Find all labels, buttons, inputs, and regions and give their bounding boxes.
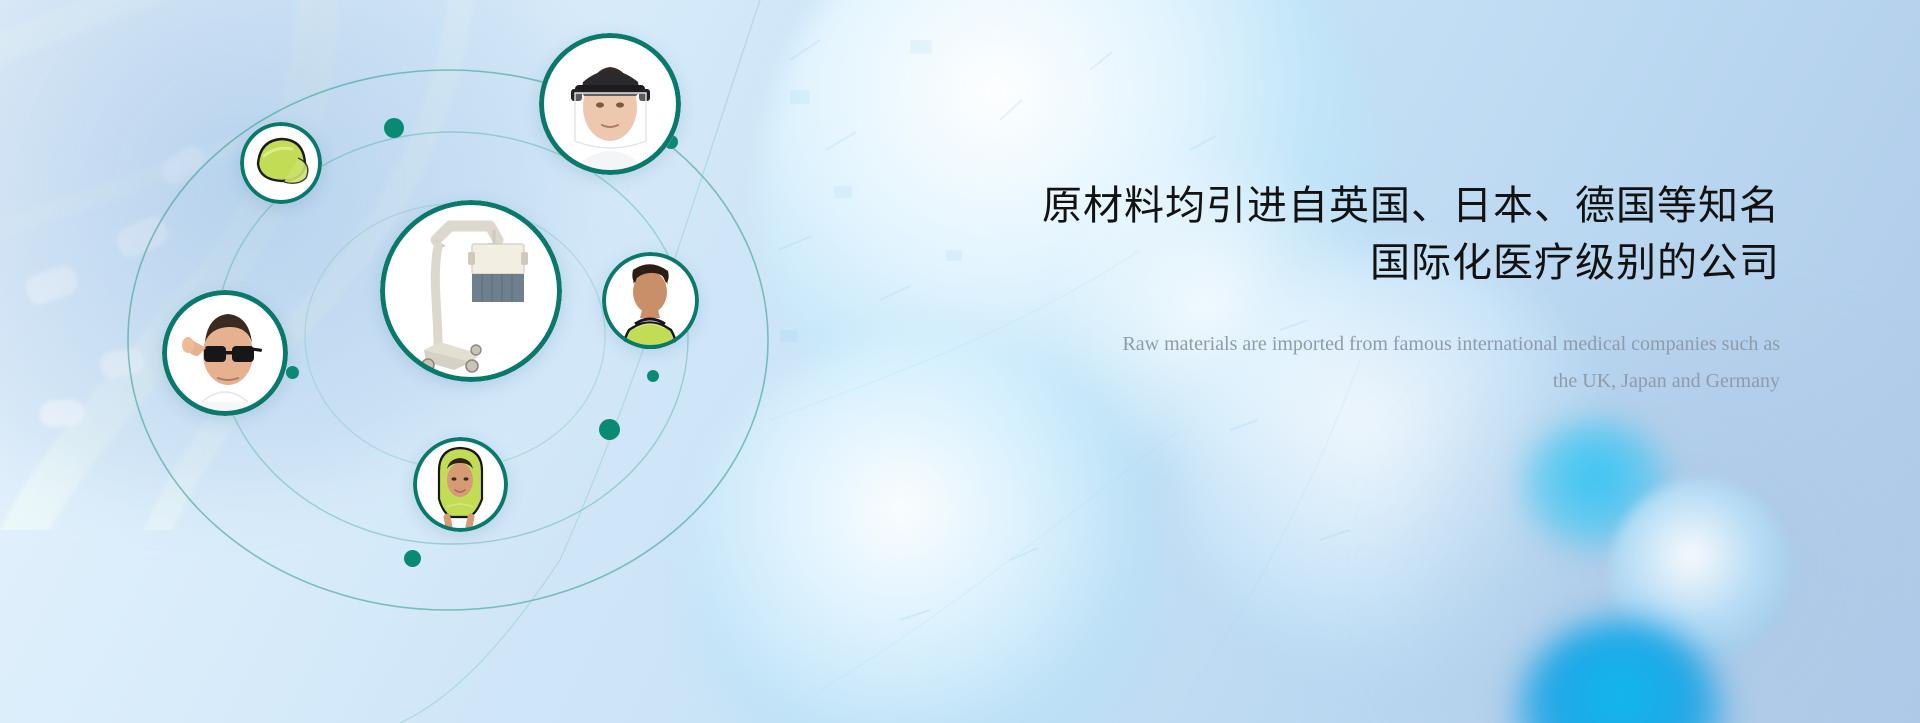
face-shield-image — [539, 33, 681, 175]
headline: 原材料均引进自英国、日本、德国等知名 国际化医疗级别的公司 — [1040, 178, 1780, 292]
subcopy-line-1: Raw materials are imported from famous i… — [1040, 326, 1780, 363]
bubble-protective-hood[interactable] — [413, 437, 508, 532]
accent-dot — [404, 550, 421, 567]
accent-dot — [384, 118, 404, 138]
bubble-face-shield[interactable] — [539, 33, 681, 175]
mobile-x-ray-barrier-image — [380, 200, 562, 382]
accent-dot — [599, 419, 620, 440]
subcopy: Raw materials are imported from famous i… — [1040, 326, 1780, 400]
protective-cap-image — [240, 122, 322, 204]
headline-line-1: 原材料均引进自英国、日本、德国等知名 — [1042, 184, 1780, 228]
headline-line-2: 国际化医疗级别的公司 — [1040, 235, 1780, 292]
banner-copy: 原材料均引进自英国、日本、德国等知名 国际化医疗级别的公司 Raw materi… — [1040, 178, 1780, 400]
bubble-thyroid-collar[interactable] — [602, 252, 699, 349]
thyroid-collar-image — [602, 252, 699, 349]
lead-glasses-image — [162, 290, 288, 416]
bubble-protective-cap[interactable] — [240, 122, 322, 204]
accent-dot — [647, 370, 659, 382]
bubble-mobile-x-ray-barrier[interactable] — [380, 200, 562, 382]
subcopy-line-2: the UK, Japan and Germany — [1040, 363, 1780, 400]
bubble-lead-glasses[interactable] — [162, 290, 288, 416]
protective-hood-image — [413, 437, 508, 532]
hero-banner: 原材料均引进自英国、日本、德国等知名 国际化医疗级别的公司 Raw materi… — [0, 0, 1920, 723]
